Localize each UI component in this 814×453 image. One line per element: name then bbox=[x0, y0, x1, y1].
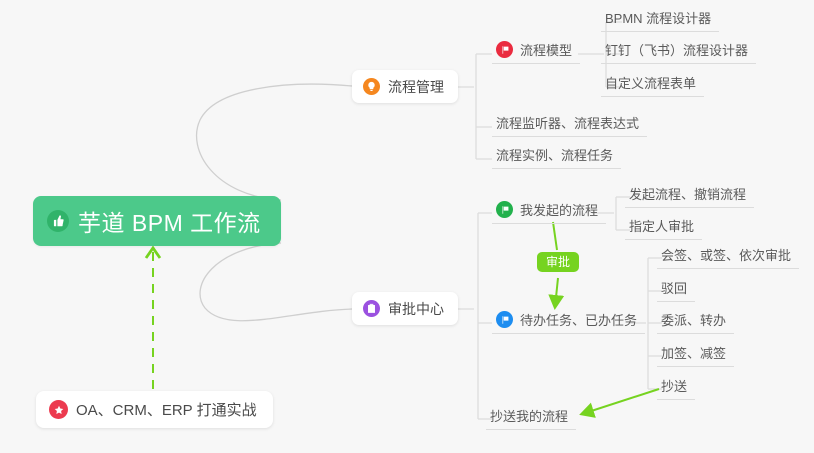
node-label: 流程监听器、流程表达式 bbox=[496, 113, 639, 132]
node-delegate-transfer[interactable]: 委派、转办 bbox=[657, 310, 734, 334]
node-label: 自定义流程表单 bbox=[605, 73, 696, 92]
branch-node-approval-center[interactable]: 审批中心 bbox=[352, 292, 458, 325]
node-process-model[interactable]: 流程模型 bbox=[492, 40, 580, 64]
node-custom-form[interactable]: 自定义流程表单 bbox=[601, 73, 704, 97]
flag-icon bbox=[496, 201, 513, 218]
approval-tag-badge: 审批 bbox=[537, 252, 579, 272]
node-assignee-approval[interactable]: 指定人审批 bbox=[625, 216, 702, 240]
node-reject[interactable]: 驳回 bbox=[657, 278, 695, 302]
node-label: 流程实例、流程任务 bbox=[496, 145, 613, 164]
clipboard-icon bbox=[363, 300, 380, 317]
mindmap-canvas: 芋道 BPM 工作流 流程管理 流程模型 流程监听器、流程表达式 流程实例、流程… bbox=[0, 0, 814, 453]
approval-tag-label: 审批 bbox=[546, 255, 570, 269]
flag-icon bbox=[496, 41, 513, 58]
node-label: 抄送我的流程 bbox=[490, 406, 568, 425]
node-my-initiated[interactable]: 我发起的流程 bbox=[492, 200, 606, 224]
integration-node[interactable]: OA、CRM、ERP 打通实战 bbox=[36, 391, 273, 428]
branch-label: 审批中心 bbox=[388, 299, 444, 319]
node-bpmn-designer[interactable]: BPMN 流程设计器 bbox=[601, 8, 719, 32]
node-label: 指定人审批 bbox=[629, 216, 694, 235]
node-dingtalk-designer[interactable]: 钉钉（飞书）流程设计器 bbox=[601, 40, 756, 64]
node-todo-done-tasks[interactable]: 待办任务、已办任务 bbox=[492, 310, 645, 334]
node-label: 委派、转办 bbox=[661, 310, 726, 329]
node-multi-approval-modes[interactable]: 会签、或签、依次审批 bbox=[657, 245, 799, 269]
root-node[interactable]: 芋道 BPM 工作流 bbox=[33, 196, 281, 246]
node-label: 抄送 bbox=[661, 376, 687, 395]
lightbulb-icon bbox=[363, 78, 380, 95]
node-process-listener[interactable]: 流程监听器、流程表达式 bbox=[492, 113, 647, 137]
node-add-remove-sign[interactable]: 加签、减签 bbox=[657, 343, 734, 367]
node-label: 加签、减签 bbox=[661, 343, 726, 362]
integration-label: OA、CRM、ERP 打通实战 bbox=[76, 399, 257, 420]
node-label: 我发起的流程 bbox=[520, 200, 598, 219]
node-start-cancel-process[interactable]: 发起流程、撤销流程 bbox=[625, 184, 754, 208]
node-label: 发起流程、撤销流程 bbox=[629, 184, 746, 203]
node-cc[interactable]: 抄送 bbox=[657, 376, 695, 400]
star-icon bbox=[49, 400, 68, 419]
flag-icon bbox=[496, 311, 513, 328]
branch-node-process-management[interactable]: 流程管理 bbox=[352, 70, 458, 103]
node-cc-to-me[interactable]: 抄送我的流程 bbox=[486, 406, 576, 430]
node-label: 会签、或签、依次审批 bbox=[661, 245, 791, 264]
branch-label: 流程管理 bbox=[388, 77, 444, 97]
node-label: 待办任务、已办任务 bbox=[520, 310, 637, 329]
wire-cc-arrow bbox=[582, 389, 659, 414]
node-label: 流程模型 bbox=[520, 40, 572, 59]
node-process-instance[interactable]: 流程实例、流程任务 bbox=[492, 145, 621, 169]
node-label: 钉钉（飞书）流程设计器 bbox=[605, 40, 748, 59]
wire-approval-center-children bbox=[452, 213, 492, 419]
root-label: 芋道 BPM 工作流 bbox=[78, 204, 261, 238]
node-label: 驳回 bbox=[661, 278, 687, 297]
thumbs-up-icon bbox=[47, 210, 69, 232]
node-label: BPMN 流程设计器 bbox=[605, 8, 711, 27]
